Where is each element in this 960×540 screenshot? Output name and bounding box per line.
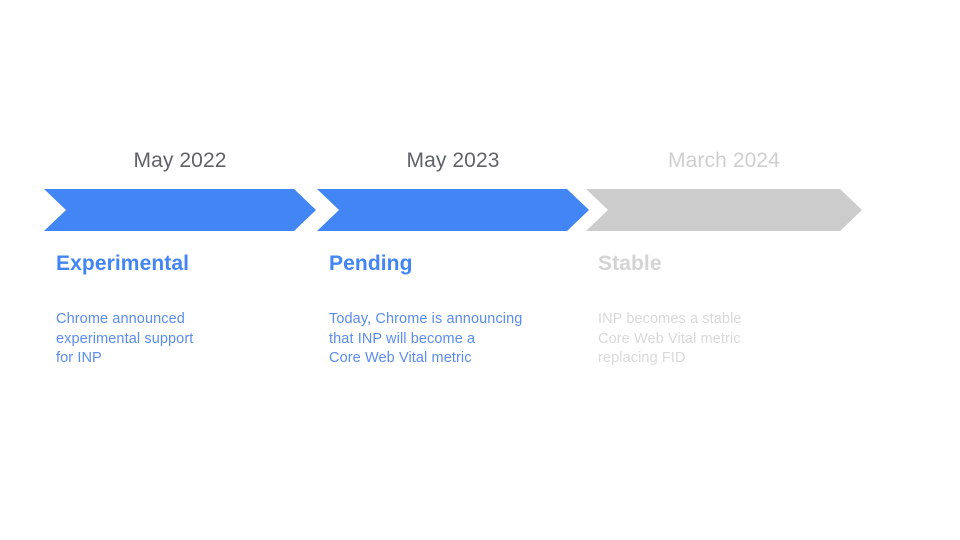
description-line: Today, Chrome is announcing	[329, 310, 522, 330]
stage-chevron-bar	[317, 189, 589, 231]
stage-description: Today, Chrome is announcing that INP wil…	[329, 310, 522, 369]
description-line: for INP	[56, 349, 193, 369]
description-line: Chrome announced	[56, 310, 193, 330]
stage-description: INP becomes a stable Core Web Vital metr…	[598, 310, 742, 369]
description-line: INP becomes a stable	[598, 310, 742, 330]
stage-date-label: May 2022	[44, 148, 316, 174]
stage-date-label: March 2024	[586, 148, 862, 174]
description-line: Core Web Vital metric	[598, 330, 742, 350]
description-line: replacing FID	[598, 349, 742, 369]
stage-description: Chrome announced experimental support fo…	[56, 310, 193, 369]
stage-status-title: Stable	[598, 251, 662, 277]
stage-status-title: Pending	[329, 251, 413, 277]
stage-chevron-bar	[44, 189, 316, 231]
stage-status-title: Experimental	[56, 251, 189, 277]
stage-chevron-bar	[586, 189, 862, 231]
description-line: experimental support	[56, 330, 193, 350]
stage-date-label: May 2023	[317, 148, 589, 174]
description-line: Core Web Vital metric	[329, 349, 522, 369]
description-line: that INP will become a	[329, 330, 522, 350]
inp-timeline-diagram: May 2022 Experimental Chrome announced e…	[0, 0, 960, 540]
